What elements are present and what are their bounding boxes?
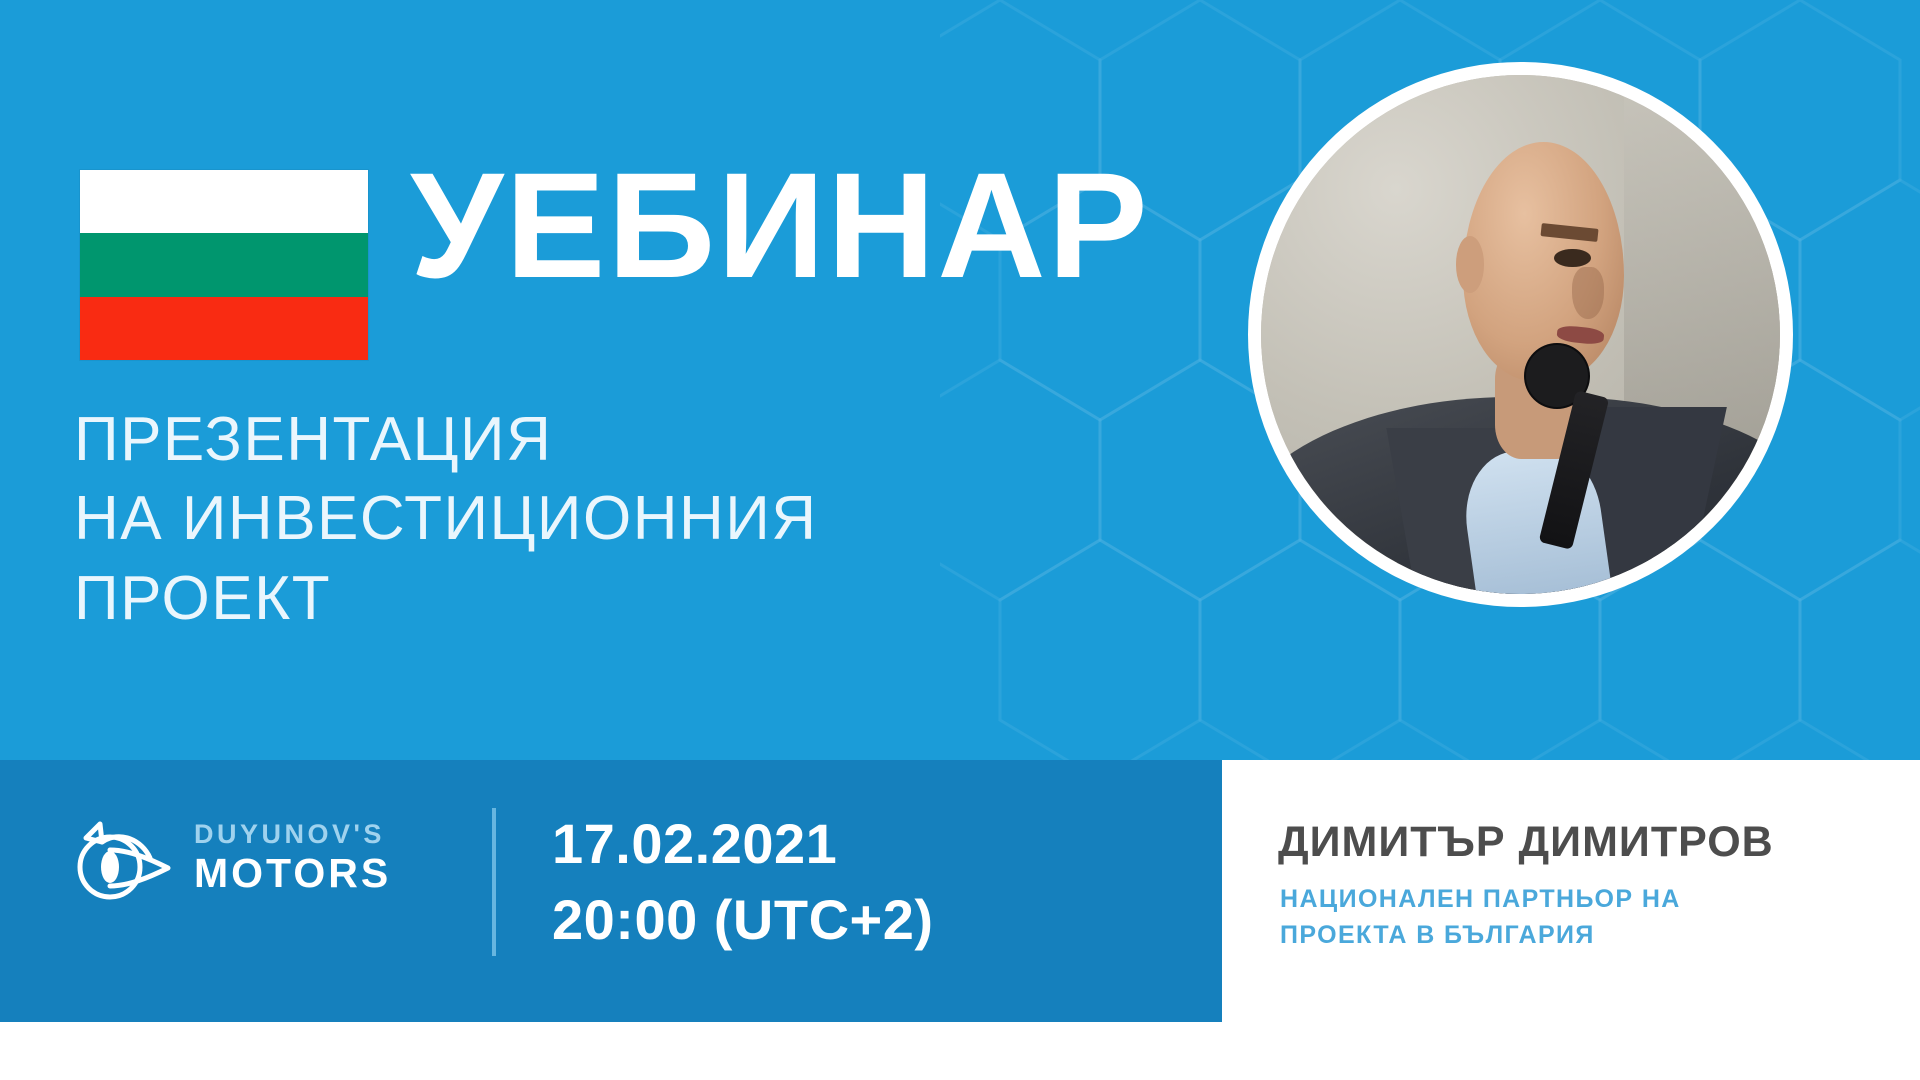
speaker-role: НАЦИОНАЛЕН ПАРТНЬОР НА ПРОЕКТА В БЪЛГАРИ… <box>1280 882 1681 953</box>
speaker-role-line-2: ПРОЕКТА В БЪЛГАРИЯ <box>1280 918 1681 954</box>
brand-wordmark: DUYUNOV'S MOTORS <box>194 821 391 894</box>
brand-logo[interactable]: DUYUNOV'S MOTORS <box>72 810 391 904</box>
speaker-name: ДИМИТЪР ДИМИТРОВ <box>1278 818 1774 867</box>
flag-stripe-green <box>80 233 368 296</box>
page-title: УЕБИНАР <box>410 150 1150 300</box>
hero-content: УЕБИНАР ПРЕЗЕНТАЦИЯ НА ИНВЕСТИЦИОННИЯ ПР… <box>0 0 1920 760</box>
banner-background: УЕБИНАР ПРЕЗЕНТАЦИЯ НА ИНВЕСТИЦИОННИЯ ПР… <box>0 0 1920 1022</box>
event-time: 20:00 (UTC+2) <box>552 882 934 958</box>
vertical-divider <box>492 808 496 956</box>
portrait-ear <box>1456 236 1485 293</box>
event-date: 17.02.2021 <box>552 806 934 882</box>
subtitle-line-3: ПРОЕКТ <box>74 559 818 638</box>
portrait-eye <box>1554 249 1590 267</box>
subtitle-line-1: ПРЕЗЕНТАЦИЯ <box>74 400 818 479</box>
speaker-card: ДИМИТЪР ДИМИТРОВ НАЦИОНАЛЕН ПАРТНЬОР НА … <box>1228 760 1920 1022</box>
subtitle-line-2: НА ИНВЕСТИЦИОННИЯ <box>74 479 818 558</box>
speaker-portrait-image <box>1261 75 1780 594</box>
speaker-role-line-1: НАЦИОНАЛЕН ПАРТНЬОР НА <box>1280 882 1681 918</box>
bottom-strip <box>0 1022 1920 1080</box>
webinar-banner: УЕБИНАР ПРЕЗЕНТАЦИЯ НА ИНВЕСТИЦИОННИЯ ПР… <box>0 0 1920 1080</box>
brand-line-2: MOTORS <box>194 853 391 894</box>
brand-line-1: DUYUNOV'S <box>194 821 391 848</box>
subtitle: ПРЕЗЕНТАЦИЯ НА ИНВЕСТИЦИОННИЯ ПРОЕКТ <box>74 400 818 638</box>
flag-stripe-red <box>80 297 368 360</box>
event-datetime: 17.02.2021 20:00 (UTC+2) <box>552 806 934 957</box>
portrait-nose <box>1572 267 1603 319</box>
duyunov-motors-logo-icon <box>72 810 176 904</box>
speaker-portrait <box>1248 62 1793 607</box>
flag-stripe-white <box>80 170 368 233</box>
bulgaria-flag-icon <box>80 170 368 360</box>
